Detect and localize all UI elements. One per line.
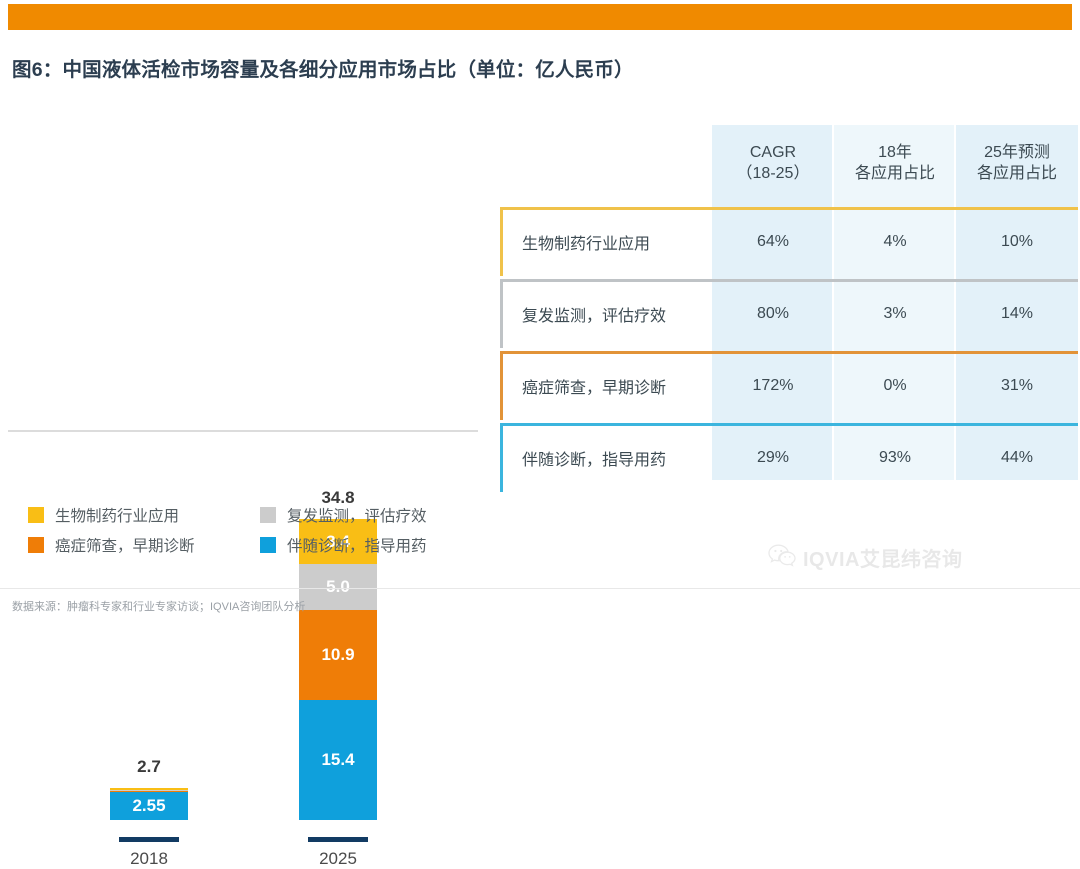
table-row: 癌症筛查，早期诊断 172% 0% 31% (500, 351, 1078, 420)
watermark: IQVIA艾昆纬咨询 (768, 543, 962, 572)
legend-item-label: 癌症筛查，早期诊断 (55, 534, 195, 556)
watermark-label: IQVIA艾昆纬咨询 (803, 543, 962, 572)
header-line-2: 各应用占比 (977, 163, 1057, 184)
bar-stack: 2.55 (110, 788, 188, 820)
bar-segment-companion: 15.4 (299, 700, 377, 820)
legend-item-label: 生物制药行业应用 (55, 504, 179, 526)
bar-total-label: 2.7 (110, 757, 188, 777)
table-row: 复发监测，评估疗效 80% 3% 14% (500, 279, 1078, 348)
table-header-share18: 18年 各应用占比 (834, 125, 956, 201)
figure-page: 图6：中国液体活检市场容量及各细分应用市场占比（单位：亿人民币） 2.7 2.5… (0, 0, 1080, 619)
table-cell-cagr: 172% (712, 351, 834, 420)
table-cell-cagr: 80% (712, 279, 834, 348)
table-cell-name: 伴随诊断，指导用药 (500, 423, 712, 492)
source-note: 数据来源：肿瘤科专家和行业专家访谈；IQVIA咨询团队分析 (12, 598, 305, 614)
table-header-share25: 25年预测 各应用占比 (956, 125, 1078, 201)
table-row: 生物制药行业应用 64% 4% 10% (500, 207, 1078, 276)
table-cell-cagr: 29% (712, 423, 834, 492)
table-header-cagr: CAGR （18-25） (712, 125, 834, 201)
legend-item-companion: 伴随诊断，指导用药 (260, 534, 492, 556)
header-line-1: 25年预测 (984, 142, 1050, 163)
table-cell-name: 生物制药行业应用 (500, 207, 712, 276)
axis-tick-2018 (119, 837, 179, 842)
header-line-1: 18年 (878, 142, 912, 163)
chart-baseline (8, 430, 478, 432)
legend-item-label: 复发监测，评估疗效 (287, 504, 427, 526)
header-line-2: （18-25） (737, 163, 810, 184)
bar-segment-screening: 10.9 (299, 610, 377, 700)
stacked-bar-chart: 2.7 2.55 2018 34.8 3.4 5.0 10.9 15.4 202… (0, 95, 490, 485)
legend-swatch-icon (28, 537, 44, 553)
table-row: 伴随诊断，指导用药 29% 93% 44% (500, 423, 1078, 492)
legend-swatch-icon (260, 537, 276, 553)
table-header-blank (500, 125, 712, 201)
axis-label-2018: 2018 (110, 849, 188, 869)
table-cell-share25: 10% (956, 207, 1078, 276)
axis-tick-2025 (308, 837, 368, 842)
page-title: 图6：中国液体活检市场容量及各细分应用市场占比（单位：亿人民币） (12, 53, 634, 82)
axis-label-2025: 2025 (299, 849, 377, 869)
table-cell-cagr: 64% (712, 207, 834, 276)
table-header-row: CAGR （18-25） 18年 各应用占比 25年预测 各应用占比 (500, 125, 1078, 201)
legend-item-label: 伴随诊断，指导用药 (287, 534, 427, 556)
table-cell-share18: 93% (834, 423, 956, 492)
legend-swatch-icon (28, 507, 44, 523)
table-cell-share18: 3% (834, 279, 956, 348)
bar-stack: 3.4 5.0 10.9 15.4 (299, 519, 377, 820)
bar-segment-companion: 2.55 (110, 792, 188, 820)
legend-swatch-icon (260, 507, 276, 523)
table-cell-share25: 44% (956, 423, 1078, 492)
table-cell-share25: 14% (956, 279, 1078, 348)
share-table: CAGR （18-25） 18年 各应用占比 25年预测 各应用占比 生物制药行… (500, 125, 1078, 480)
header-accent-bar (8, 4, 1072, 30)
bar-segment-recurrence: 5.0 (299, 564, 377, 610)
header-line-2: 各应用占比 (855, 163, 935, 184)
wechat-icon (768, 543, 796, 572)
legend-item-screening: 癌症筛查，早期诊断 (28, 534, 260, 556)
table-cell-name: 复发监测，评估疗效 (500, 279, 712, 348)
table-cell-name: 癌症筛查，早期诊断 (500, 351, 712, 420)
legend-item-biopharma: 生物制药行业应用 (28, 504, 260, 526)
table-cell-share25: 31% (956, 351, 1078, 420)
footer-divider (0, 588, 1080, 589)
table-cell-share18: 0% (834, 351, 956, 420)
table-cell-share18: 4% (834, 207, 956, 276)
legend-item-recurrence: 复发监测，评估疗效 (260, 504, 492, 526)
header-line-1: CAGR (750, 142, 796, 163)
chart-legend: 生物制药行业应用 复发监测，评估疗效 癌症筛查，早期诊断 伴随诊断，指导用药 (28, 500, 488, 560)
